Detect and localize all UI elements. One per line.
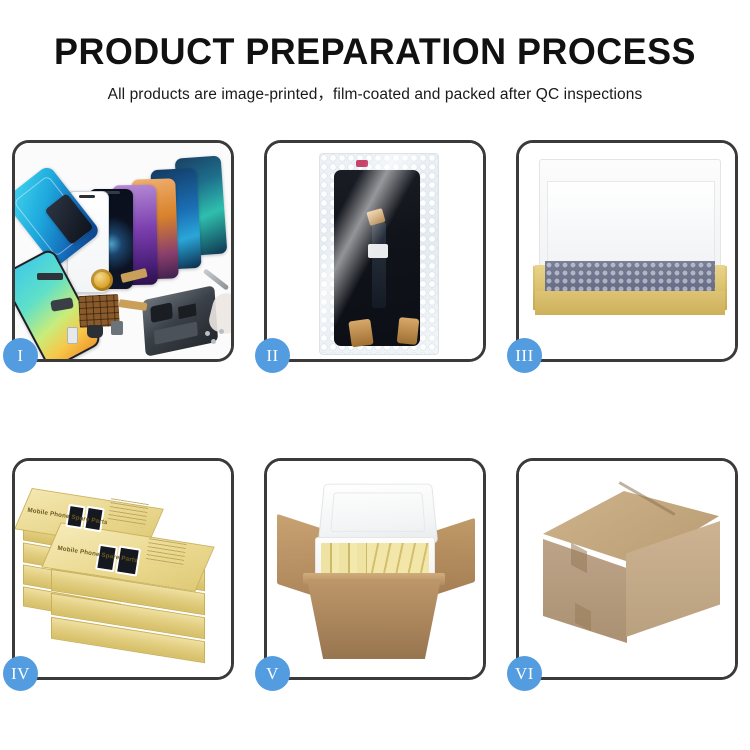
- step-panel-2[interactable]: II: [264, 140, 486, 362]
- bag-sheen-icon: [320, 154, 438, 354]
- badge-step-2: II: [255, 338, 290, 373]
- styrofoam-lid-icon: [318, 484, 438, 544]
- process-steps-grid: I: [12, 140, 738, 680]
- page-title: PRODUCT PREPARATION PROCESS: [11, 0, 739, 72]
- gray-bubble-wrap-icon: [545, 261, 715, 295]
- sealed-carton-scene: [519, 461, 735, 677]
- carton-body-icon: [307, 579, 441, 659]
- open-yellow-box-scene: [519, 143, 735, 359]
- step-image-6: [519, 461, 735, 677]
- screw-icon: [205, 331, 210, 336]
- copper-coil-icon: [91, 269, 113, 291]
- step-image-2: [267, 143, 483, 359]
- earpiece-icon: [87, 325, 103, 338]
- button-part-icon: [67, 327, 78, 344]
- step-panel-4[interactable]: Mobile Phone Spare Parts Mobile Phone Sp…: [12, 458, 234, 680]
- step-image-5: [267, 461, 483, 677]
- step-panel-3[interactable]: III: [516, 140, 738, 362]
- step-panel-6[interactable]: VI: [516, 458, 738, 680]
- badge-step-3: III: [507, 338, 542, 373]
- step-image-4: Mobile Phone Spare Parts Mobile Phone Sp…: [15, 461, 231, 677]
- screw-icon: [211, 339, 216, 344]
- yellow-box-front-icon: [535, 291, 725, 315]
- carton-with-cooler-scene: [267, 461, 483, 677]
- badge-step-4: IV: [3, 656, 38, 691]
- screw-icon: [219, 329, 224, 334]
- product-preparation-page: PRODUCT PREPARATION PROCESS All products…: [0, 0, 750, 750]
- phone-back-housing-icon: [142, 285, 218, 357]
- step-panel-1[interactable]: I: [12, 140, 234, 362]
- page-subtitle: All products are image-printed，film-coat…: [0, 72, 750, 104]
- step-image-3: [519, 143, 735, 359]
- stacked-retail-boxes-scene: Mobile Phone Spare Parts Mobile Phone Sp…: [15, 461, 231, 677]
- step-panel-5[interactable]: V: [264, 458, 486, 680]
- bubble-wrapped-lcd-scene: [267, 143, 483, 359]
- badge-step-1: I: [3, 338, 38, 373]
- badge-step-6: VI: [507, 656, 542, 691]
- badge-step-5: V: [255, 656, 290, 691]
- foam-sheet-icon: [547, 181, 715, 273]
- page-header: PRODUCT PREPARATION PROCESS All products…: [0, 0, 750, 104]
- speaker-bar-icon: [37, 273, 63, 280]
- phone-parts-scene: [15, 143, 231, 359]
- sim-tray-icon: [111, 321, 123, 335]
- bubble-wrap-bag-icon: [319, 153, 439, 355]
- step-image-1: [15, 143, 231, 359]
